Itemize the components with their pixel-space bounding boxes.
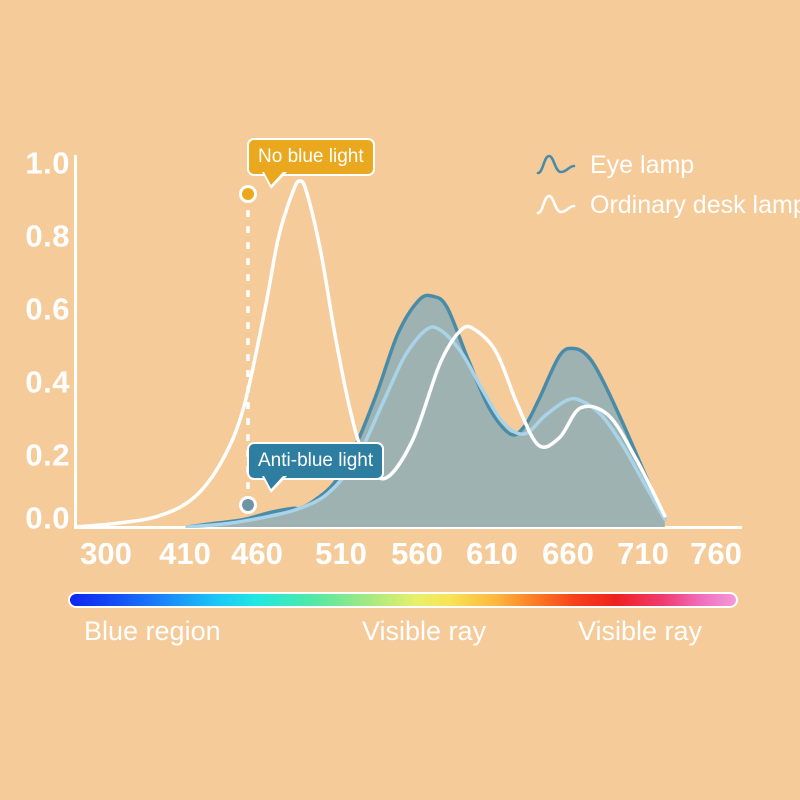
spectrum-chart: 1.0 0.8 0.6 0.4 0.2 0.0 300 410 460 510 … xyxy=(0,0,800,800)
legend-label-eye-lamp: Eye lamp xyxy=(590,153,694,178)
y-tick-label: 0.2 xyxy=(8,440,70,471)
marker-anti-blue-light[interactable] xyxy=(241,498,256,513)
callout-anti-blue-light-text: Anti-blue light xyxy=(258,450,373,471)
y-tick-label: 1.0 xyxy=(8,148,70,179)
callout-no-blue-light-text: No blue light xyxy=(258,146,364,167)
wave-curve-icon xyxy=(536,192,576,218)
spectrum-label-visible-ray-2: Visible ray xyxy=(578,618,702,645)
callout-anti-blue-light[interactable]: Anti-blue light xyxy=(247,442,384,480)
x-axis-labels: 300 410 460 510 560 610 660 710 760 xyxy=(0,538,800,578)
y-tick-label: 0.8 xyxy=(8,221,70,252)
y-tick-label: 0.6 xyxy=(8,294,70,325)
spectrum-gradient-bar xyxy=(68,592,738,608)
spectrum-label-visible-ray-1: Visible ray xyxy=(362,618,486,645)
plot-area xyxy=(0,0,800,800)
callout-tail-inner xyxy=(264,476,283,489)
y-tick-label: 0.0 xyxy=(8,503,70,534)
legend-label-ordinary-desk-lamp: Ordinary desk lamp xyxy=(590,193,800,218)
legend-item-ordinary-desk-lamp[interactable]: Ordinary desk lamp xyxy=(536,188,800,222)
y-axis-labels: 1.0 0.8 0.6 0.4 0.2 0.0 xyxy=(4,0,70,800)
chart-legend: Eye lamp Ordinary desk lamp xyxy=(536,148,800,222)
marker-no-blue-light[interactable] xyxy=(241,187,256,202)
legend-item-eye-lamp[interactable]: Eye lamp xyxy=(536,148,800,182)
x-tick-label: 460 xyxy=(212,538,302,569)
x-tick-label: 300 xyxy=(61,538,151,569)
callout-tail-inner xyxy=(264,172,283,185)
x-tick-label: 760 xyxy=(671,538,761,569)
callout-no-blue-light[interactable]: No blue light xyxy=(247,138,375,176)
wave-curve-icon xyxy=(536,152,576,178)
spectrum-label-blue-region: Blue region xyxy=(84,618,221,645)
y-tick-label: 0.4 xyxy=(8,367,70,398)
spectrum-region-labels: Blue region Visible ray Visible ray xyxy=(0,618,800,658)
